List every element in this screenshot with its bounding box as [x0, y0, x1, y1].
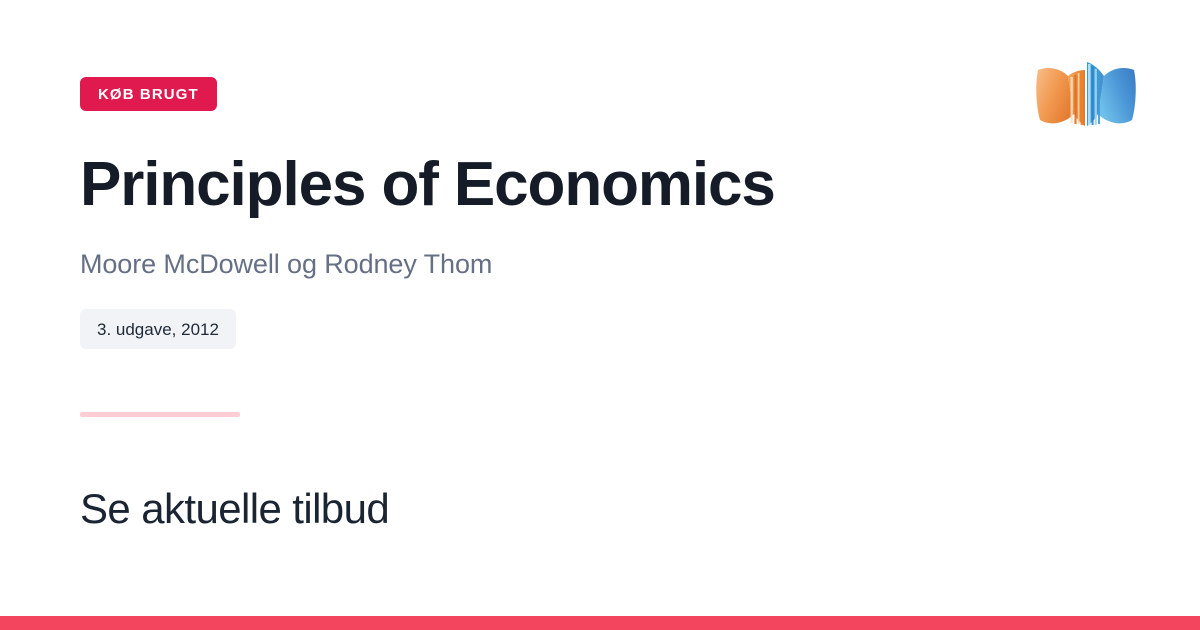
section-divider — [80, 412, 240, 417]
brand-logo[interactable] — [1034, 48, 1138, 148]
view-current-offers-link[interactable]: Se aktuelle tilbud — [80, 484, 389, 534]
butterfly-book-icon — [1034, 48, 1138, 148]
edition-chip: 3. udgave, 2012 — [80, 309, 236, 349]
book-authors: Moore McDowell og Rodney Thom — [80, 247, 492, 282]
page-canvas: KØB BRUGT Principles of Economics Moore … — [0, 0, 1200, 630]
bottom-accent-bar — [0, 616, 1200, 630]
page-title: Principles of Economics — [80, 152, 775, 218]
buy-used-badge[interactable]: KØB BRUGT — [80, 77, 217, 111]
